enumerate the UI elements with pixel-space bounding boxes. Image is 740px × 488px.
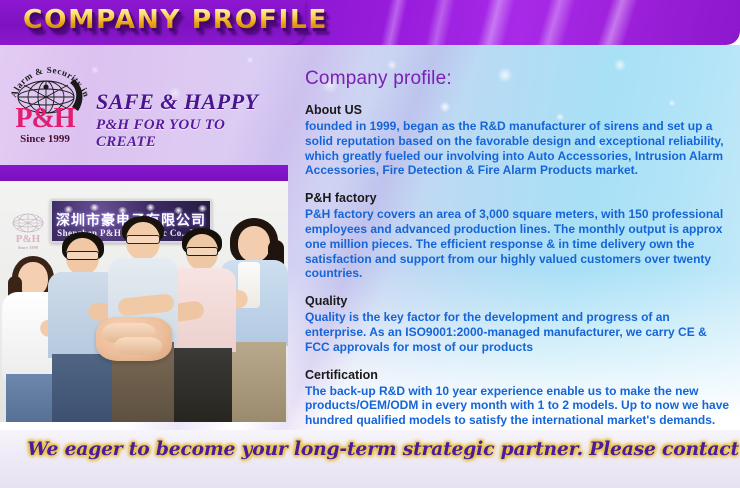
company-profile-page: COMPANY PROFILE [0, 0, 740, 488]
section-body: founded in 1999, began as the R&D manufa… [305, 119, 730, 178]
section-title: P&H factory [305, 191, 730, 206]
section-title: About US [305, 103, 730, 118]
footer-banner: We eager to become your long-term strate… [0, 430, 740, 488]
brand-logo-block: Alarm & Security in P&H Since 1999 SAFE … [0, 45, 288, 165]
page-title: COMPANY PROFILE [23, 5, 328, 35]
hands-together-gesture [96, 317, 172, 361]
section-body: Quality is the key factor for the develo… [305, 310, 730, 354]
section-title: Certification [305, 368, 730, 383]
team-photo: P&H Since 1999 深圳市豪电子有限公司 Shenzhen P&H E… [0, 181, 288, 422]
wall-logo-watermark: P&H Since 1999 [6, 203, 50, 251]
svg-text:P&H: P&H [16, 233, 41, 245]
profile-heading: Company profile: [305, 68, 730, 90]
logo-since-text: Since 1999 [6, 133, 84, 145]
section-ph-factory: P&H factory P&H factory covers an area o… [305, 191, 730, 281]
section-quality: Quality Quality is the key factor for th… [305, 294, 730, 354]
section-title: Quality [305, 294, 730, 309]
profile-panel: Company profile: About US founded in 199… [305, 68, 730, 441]
slogan-secondary: P&H FOR YOU TO CREATE [96, 117, 288, 151]
company-logo: Alarm & Security in P&H Since 1999 [6, 57, 94, 155]
section-about-us: About US founded in 1999, began as the R… [305, 103, 730, 178]
purple-divider [0, 165, 288, 181]
header-banner: COMPANY PROFILE [0, 0, 740, 45]
slogan-primary: SAFE & HAPPY [96, 89, 258, 115]
logo-brand-text: P&H [6, 105, 84, 133]
section-body: P&H factory covers an area of 3,000 squa… [305, 207, 730, 281]
section-certification: Certification The back-up R&D with 10 ye… [305, 368, 730, 428]
section-body: The back-up R&D with 10 year experience … [305, 384, 730, 428]
footer-slogan: We eager to become your long-term strate… [27, 438, 717, 460]
